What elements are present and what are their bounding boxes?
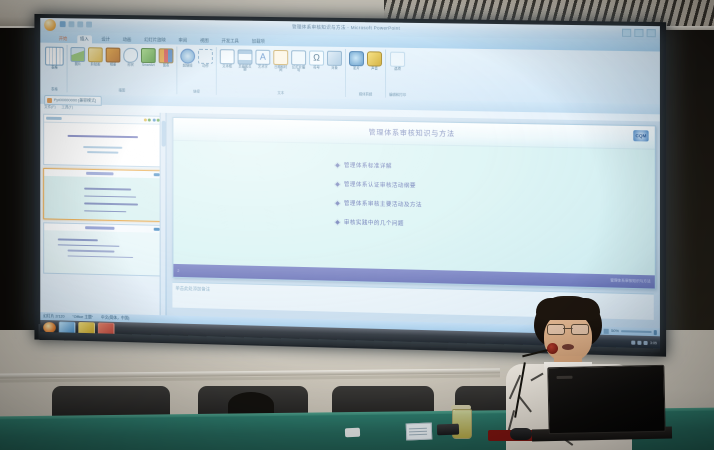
minimize-icon[interactable] <box>622 29 631 37</box>
ribbon-group-table: 表格 表格 <box>42 45 67 93</box>
movie-icon <box>349 51 364 66</box>
diamond-bullet-icon <box>334 199 341 206</box>
status-language[interactable]: 中文(简体，中国) <box>101 315 130 321</box>
ribbon-label-sound: 声音 <box>371 67 378 71</box>
ribbon-item-symbol[interactable]: Ω 符号 <box>309 50 324 70</box>
thumb1-logo <box>46 117 62 120</box>
ribbon-group-name-illustrations: 插图 <box>119 87 126 93</box>
wordart-icon: A <box>255 50 270 65</box>
ribbon-group-name-text: 文本 <box>277 90 284 96</box>
ribbon-label-clipart: 剪贴画 <box>91 63 101 67</box>
thumb1-logos <box>143 118 159 121</box>
cqm-logo-icon: CQM <box>633 130 648 141</box>
date-time-icon <box>273 50 288 65</box>
tab-insert[interactable]: 插入 <box>77 35 91 43</box>
ribbon-label-movie: 影片 <box>353 67 360 71</box>
ribbon-label-symbol: 符号 <box>313 67 320 71</box>
ribbon-label-headerfooter: 页眉和页脚 <box>238 65 253 72</box>
current-slide[interactable]: 管理体系审核知识与方法 CQM 管理体系标准详解 管理体系认证审核活动纲要 <box>172 117 655 290</box>
thumb2-title-line <box>86 172 113 176</box>
ribbon-item-photoalbum[interactable]: 相册 <box>106 48 121 67</box>
ribbon-label-object: 对象 <box>331 67 338 71</box>
taskbar-browser-icon[interactable] <box>59 321 76 334</box>
thumb3-body <box>44 238 161 276</box>
thumb2-body <box>44 187 161 222</box>
bullet-text-2: 管理体系认证审核活动纲要 <box>344 180 416 189</box>
diamond-bullet-icon <box>334 161 341 168</box>
restore-icon[interactable] <box>634 29 643 37</box>
ribbon-label-photoalbum: 相册 <box>110 63 116 67</box>
status-slide-count: 幻灯片 2/120 <box>43 314 64 319</box>
ribbon-group-illustrations: 图片 剪贴画 相册 形状 <box>68 45 178 94</box>
close-icon[interactable] <box>647 29 656 37</box>
document-tab-label: Ppt00000000 [兼容模式] <box>54 97 96 104</box>
ribbon-label-shapes: 形状 <box>127 64 133 68</box>
bullet-text-3: 管理体系审核主要活动及方法 <box>344 199 422 209</box>
clip-art-icon <box>88 47 103 62</box>
ribbon-label-slidenumber: 幻灯片编号 <box>291 66 306 73</box>
menu-tools[interactable]: 工具(T) <box>61 105 72 110</box>
header-footer-icon <box>238 49 253 64</box>
slide-bullet-list[interactable]: 管理体系标准详解 管理体系认证审核活动纲要 管理体系审核主要活动及方法 <box>335 161 422 228</box>
action-icon <box>198 49 213 64</box>
ribbon-item-object[interactable]: 对象 <box>327 51 342 71</box>
ppt-file-icon <box>47 98 52 103</box>
bullet-row-1[interactable]: 管理体系标准详解 <box>335 161 422 171</box>
ribbon-item-chart[interactable]: 图表 <box>159 48 174 68</box>
ribbon-group-name-editprint: 编辑和打印 <box>389 92 406 98</box>
smartart-icon <box>141 48 156 63</box>
slide-thumbnail-pane[interactable] <box>40 111 166 316</box>
taskbar-folder-icon[interactable] <box>78 321 95 334</box>
document-tab[interactable]: Ppt00000000 [兼容模式] <box>44 95 102 106</box>
ribbon-item-picture[interactable]: 图片 <box>70 47 85 66</box>
thumbnail-scrollbar-thumb[interactable] <box>161 121 165 147</box>
ribbon-group-name-links: 链接 <box>193 89 200 95</box>
bullet-row-2[interactable]: 管理体系认证审核活动纲要 <box>335 180 422 190</box>
presenter-glasses <box>547 324 589 333</box>
ribbon-label-textbox: 文本框 <box>222 65 232 69</box>
ribbon-group-text: 文本框 页眉和页脚 A 艺术字 日期和时间 <box>217 47 346 97</box>
picture-icon <box>70 47 85 62</box>
bullet-text-1: 管理体系标准详解 <box>344 161 392 170</box>
bullet-row-3[interactable]: 管理体系审核主要活动及方法 <box>335 199 422 209</box>
sound-icon <box>367 51 382 66</box>
thumb1-body <box>44 134 161 167</box>
chart-icon <box>159 48 174 63</box>
ribbon-item-headerfooter[interactable]: 页眉和页脚 <box>238 49 253 72</box>
slide-number-icon <box>291 50 306 65</box>
thumb1-header <box>44 115 161 125</box>
ribbon-label-options: 选项 <box>394 68 401 72</box>
ribbon-group-links: 超链接 动作 链接 <box>177 47 216 95</box>
symbol-icon: Ω <box>309 50 324 65</box>
tray-clock[interactable]: 3:05 <box>650 341 657 345</box>
bullet-text-4: 审核实践中的几个问题 <box>344 218 404 227</box>
ribbon-item-options[interactable]: 选项 <box>390 52 405 72</box>
ribbon-label-table: 表格 <box>51 66 57 70</box>
zoom-slider-knob[interactable] <box>654 330 657 335</box>
laptop-screen <box>547 365 665 434</box>
ribbon-label-wordart: 艺术字 <box>258 66 268 70</box>
options-icon <box>390 52 405 67</box>
ribbon-item-textbox[interactable]: 文本框 <box>220 49 235 69</box>
ribbon-label-chart: 图表 <box>163 64 169 68</box>
ribbon-label-hyperlink: 超链接 <box>183 65 193 69</box>
object-icon <box>327 51 342 66</box>
notebook <box>406 423 433 441</box>
phone <box>437 424 459 436</box>
ribbon-group-editprint: 选项 编辑和打印 <box>386 50 409 98</box>
taskbar-powerpoint-icon[interactable] <box>98 322 115 335</box>
ribbon-group-media: 影片 声音 媒体剪辑 <box>346 49 386 98</box>
table-icon <box>45 47 64 66</box>
notes-placeholder: 单击此处添加备注 <box>172 286 210 292</box>
laptop-logo <box>556 376 572 379</box>
slide-title[interactable]: 管理体系审核知识与方法 <box>173 124 654 143</box>
ribbon-label-smartart: SmartArt <box>142 64 155 68</box>
slide-footer-note: 管理体系审核知识与方法 <box>610 278 650 284</box>
status-theme: "Office 主题" <box>72 314 93 319</box>
ribbon-label-picture: 图片 <box>75 63 81 67</box>
presenter-fringe <box>536 298 600 320</box>
ribbon-item-action[interactable]: 动作 <box>198 49 213 69</box>
screenshot-root: 管理体系审核知识与方法 - Microsoft PowerPoint 开始 插入… <box>0 0 714 450</box>
ribbon-item-table[interactable]: 表格 <box>45 47 64 70</box>
computer-mouse <box>510 428 532 440</box>
ribbon-item-hyperlink[interactable]: 超链接 <box>180 49 195 69</box>
ribbon-item-movie[interactable]: 影片 <box>349 51 364 71</box>
ribbon-label-action: 动作 <box>202 65 209 69</box>
shapes-icon <box>123 48 138 63</box>
remote-control <box>345 428 360 438</box>
ribbon-label-datetime: 日期和时间 <box>273 66 288 73</box>
diamond-bullet-icon <box>334 180 341 187</box>
ribbon-item-shapes[interactable]: 形状 <box>123 48 138 67</box>
ribbon-item-datetime[interactable]: 日期和时间 <box>273 50 288 73</box>
slide-header-band: 管理体系审核知识与方法 CQM <box>173 118 654 150</box>
slide-thumbnail-1[interactable] <box>43 114 162 168</box>
presenter-mouth <box>562 344 574 350</box>
thumb3-title-line <box>85 226 114 230</box>
diamond-bullet-icon <box>334 218 341 225</box>
ribbon-group-name-table: 表格 <box>51 86 58 92</box>
textbox-icon <box>220 49 235 64</box>
ribbon-item-wordart[interactable]: A 艺术字 <box>255 50 270 70</box>
ribbon-item-clipart[interactable]: 剪贴画 <box>88 47 103 66</box>
ribbon-item-slidenumber[interactable]: 幻灯片编号 <box>291 50 306 73</box>
thumbnail-scrollbar[interactable] <box>160 113 166 316</box>
bullet-row-4[interactable]: 审核实践中的几个问题 <box>335 218 422 228</box>
window-buttons[interactable] <box>622 29 656 38</box>
slide-footer-number: 2 <box>177 268 179 272</box>
ribbon-item-sound[interactable]: 声音 <box>367 51 382 71</box>
menu-file[interactable]: 文件(F) <box>44 105 55 110</box>
slide-thumbnail-3[interactable] <box>43 222 162 276</box>
ribbon-group-name-media: 媒体剪辑 <box>359 91 373 97</box>
ribbon-item-smartart[interactable]: SmartArt <box>141 48 156 68</box>
tray-icon[interactable] <box>644 341 648 345</box>
photo-album-icon <box>106 48 121 63</box>
hyperlink-icon <box>180 49 195 64</box>
slide-thumbnail-2[interactable] <box>43 168 162 222</box>
start-orb-icon[interactable] <box>43 321 56 332</box>
microphone-head <box>547 343 558 354</box>
